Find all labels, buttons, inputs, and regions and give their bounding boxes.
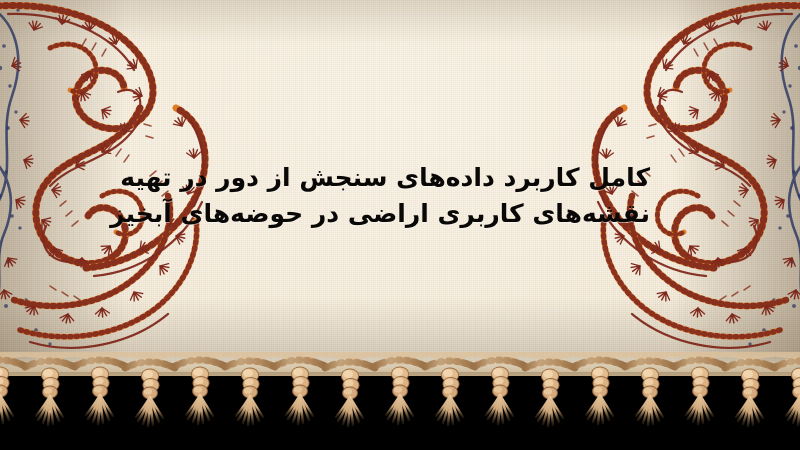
- page-title: کامل کاربرد داده‌های سنجش از دور در تهیه…: [150, 160, 650, 232]
- title-line-1: کامل کاربرد داده‌های سنجش از دور در تهیه: [150, 160, 650, 196]
- tassel-row: [0, 360, 800, 426]
- title-line-2: نقشه‌های کاربری اراضی در حوضه‌های آبخیز: [150, 196, 650, 232]
- title-card: کامل کاربرد داده‌های سنجش از دور در تهیه…: [0, 0, 800, 450]
- tassel-fringe: [0, 352, 800, 450]
